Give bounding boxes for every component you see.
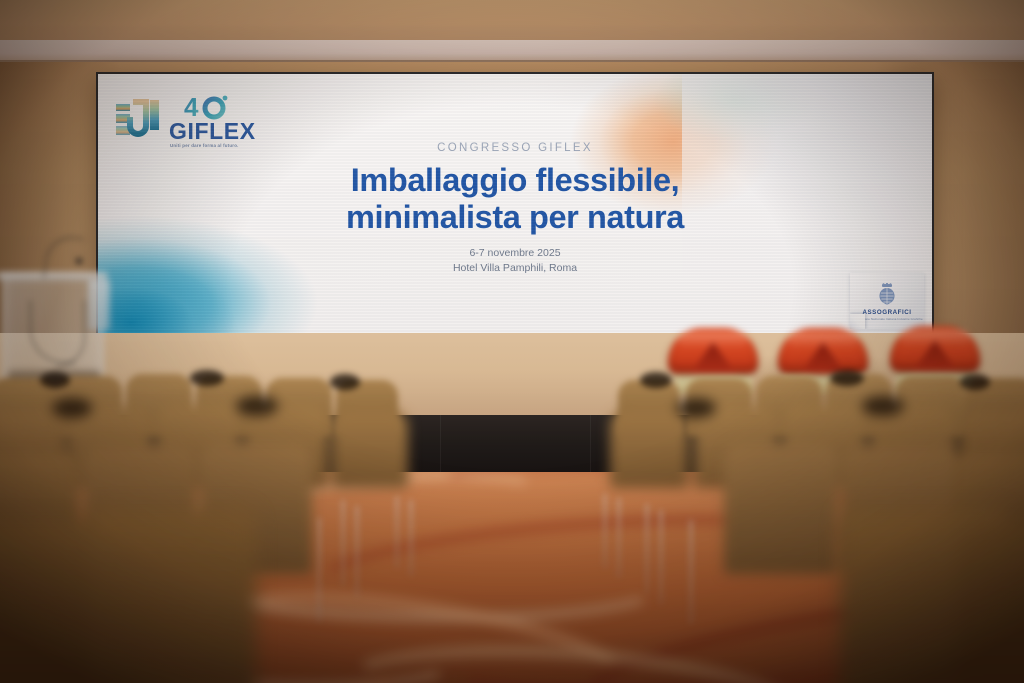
audience-chair bbox=[88, 508, 256, 683]
assografici-subtitle: Associazione Nazionale Italiana Industri… bbox=[850, 317, 924, 321]
ceiling-soffit bbox=[0, 40, 1024, 62]
audience-chair bbox=[610, 410, 688, 488]
presentation-screen: 4 GIFLEX Uniti per dare forma al futuro.… bbox=[96, 72, 934, 335]
slide-title-line-1: Imballaggio flessibile, bbox=[98, 162, 932, 199]
audience-chair bbox=[332, 410, 408, 488]
assografici-logo: ASSOGRAFICI Associazione Nazionale Itali… bbox=[850, 273, 924, 329]
slide-title: Imballaggio flessibile, minimalista per … bbox=[98, 162, 932, 236]
svg-text:4: 4 bbox=[184, 94, 199, 120]
lectern-side-plate bbox=[88, 280, 110, 330]
microphone-capsule bbox=[76, 258, 82, 264]
audience-chair bbox=[724, 444, 838, 574]
armchair-highlight bbox=[788, 332, 858, 348]
giflex-logo-mark bbox=[114, 98, 174, 146]
slide-venue: Hotel Villa Pamphili, Roma bbox=[98, 261, 932, 276]
giflex-40-anniversary-mark: 4 bbox=[184, 94, 232, 120]
screen-surface: 4 GIFLEX Uniti per dare forma al futuro.… bbox=[98, 74, 932, 333]
slide-date: 6-7 novembre 2025 bbox=[98, 246, 932, 261]
slide-kicker: CONGRESSO GIFLEX bbox=[98, 142, 932, 154]
eagle-crown-icon bbox=[874, 283, 900, 307]
slide-meta: 6-7 novembre 2025 Hotel Villa Pamphili, … bbox=[98, 246, 932, 276]
slide-title-line-2: minimalista per natura bbox=[98, 199, 932, 236]
armchair-highlight bbox=[900, 330, 970, 346]
audience-chair bbox=[958, 520, 1024, 683]
armchair-highlight bbox=[678, 332, 748, 348]
audience-chair bbox=[0, 520, 100, 683]
giflex-wordmark: GIFLEX bbox=[169, 120, 256, 143]
assografici-name: ASSOGRAFICI bbox=[850, 309, 924, 316]
conference-hall-photo: 4 GIFLEX Uniti per dare forma al futuro.… bbox=[0, 0, 1024, 683]
ceiling bbox=[0, 0, 1024, 42]
